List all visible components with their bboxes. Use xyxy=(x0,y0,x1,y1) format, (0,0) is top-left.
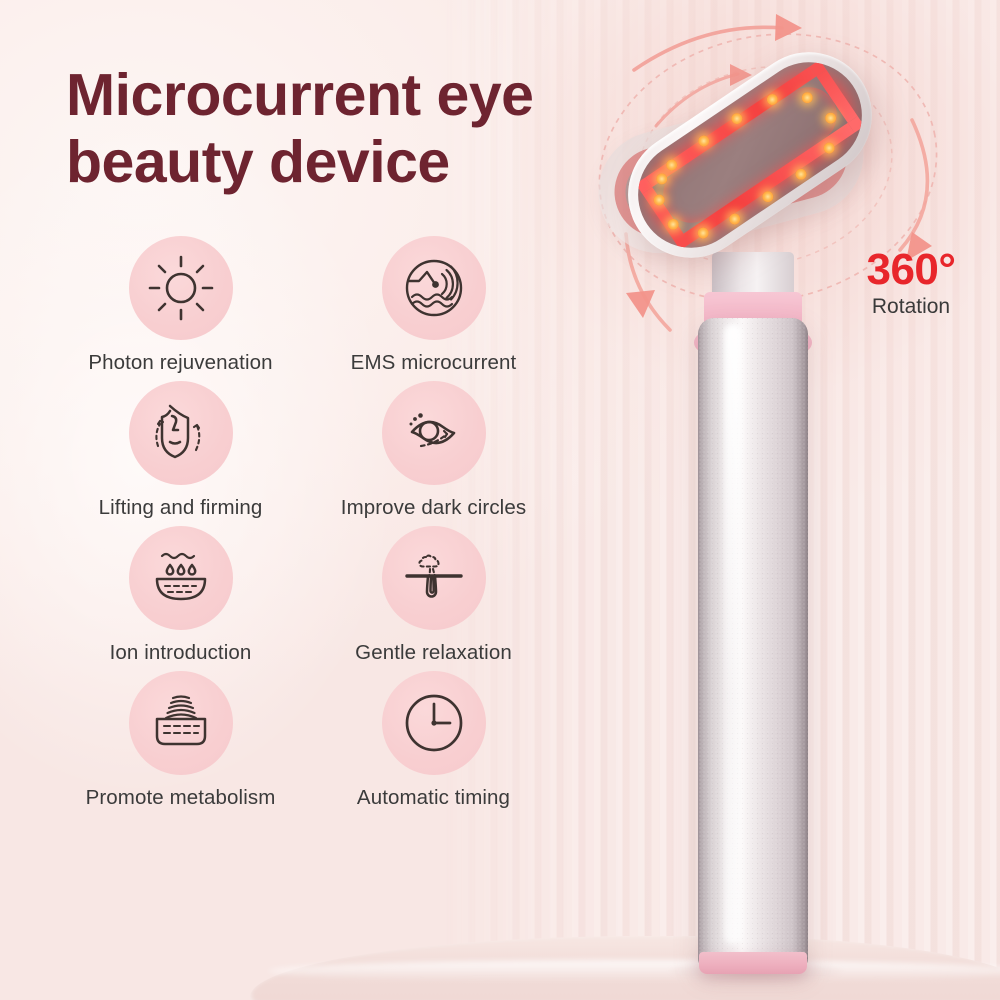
feature-badge xyxy=(129,381,233,485)
feature-item-promote-metabolism: Promote metabolism xyxy=(58,671,303,810)
rotation-callout: 360° Rotation xyxy=(836,248,986,318)
feature-badge xyxy=(129,671,233,775)
ems-wave-icon xyxy=(399,253,469,323)
pore-steam-icon xyxy=(399,543,469,613)
feature-label: Improve dark circles xyxy=(341,496,526,520)
feature-label: Lifting and firming xyxy=(99,496,263,520)
device-base xyxy=(699,952,807,974)
rotation-caption: Rotation xyxy=(836,295,986,318)
device-head-face xyxy=(618,42,883,269)
sun-icon xyxy=(146,253,216,323)
feature-item-photon-rejuvenation: Photon rejuvenation xyxy=(58,236,303,375)
feature-badge xyxy=(382,671,486,775)
feature-label: Photon rejuvenation xyxy=(88,351,272,375)
feature-label: Gentle relaxation xyxy=(355,641,512,665)
feature-badge xyxy=(382,381,486,485)
rotation-degrees: 360° xyxy=(836,248,986,292)
handle-highlight xyxy=(724,324,742,944)
product-poster: Microcurrent eye beauty device xyxy=(0,0,1000,1000)
feature-label: Promote metabolism xyxy=(86,786,276,810)
ion-droplet-icon xyxy=(146,543,216,613)
clock-icon xyxy=(399,688,469,758)
feature-item-ems-microcurrent: EMS microcurrent xyxy=(311,236,556,375)
skin-waves-icon xyxy=(146,688,216,758)
product-device-image xyxy=(560,0,1000,1000)
feature-label: Automatic timing xyxy=(357,786,510,810)
feature-badge xyxy=(382,526,486,630)
device-handle xyxy=(698,318,808,968)
feature-item-lifting-and-firming: Lifting and firming xyxy=(58,381,303,520)
feature-badge xyxy=(129,526,233,630)
feature-grid: Photon rejuvenation xyxy=(58,236,588,810)
feature-badge xyxy=(382,236,486,340)
feature-label: Ion introduction xyxy=(110,641,252,665)
feature-badge xyxy=(129,236,233,340)
handle-texture xyxy=(698,318,808,968)
device-head xyxy=(604,28,897,282)
face-lifting-icon xyxy=(146,398,216,468)
feature-item-improve-dark-circles: Improve dark circles xyxy=(311,381,556,520)
feature-item-ion-introduction: Ion introduction xyxy=(58,526,303,665)
eye-icon xyxy=(399,398,469,468)
feature-item-automatic-timing: Automatic timing xyxy=(311,671,556,810)
feature-label: EMS microcurrent xyxy=(351,351,517,375)
feature-item-gentle-relaxation: Gentle relaxation xyxy=(311,526,556,665)
